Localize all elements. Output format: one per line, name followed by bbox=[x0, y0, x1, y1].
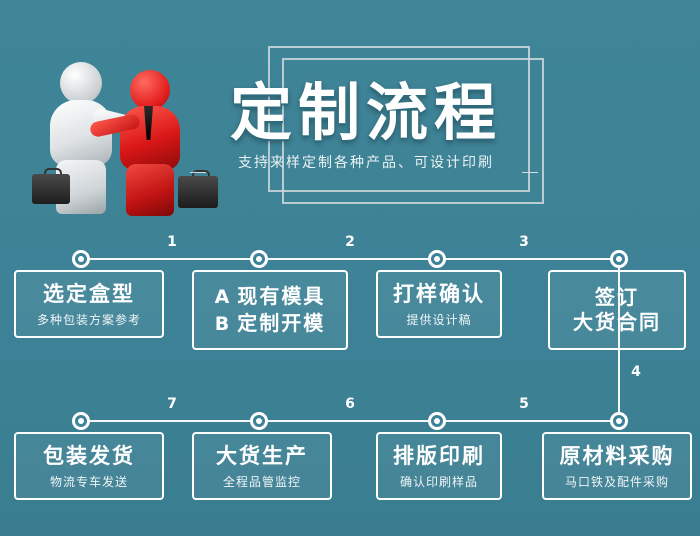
step-number-3: 3 bbox=[512, 234, 536, 250]
step-packing-shipping[interactable]: 包装发货 物流专车发送 bbox=[14, 432, 164, 500]
title-rule-left bbox=[190, 172, 206, 173]
step-2-option-a: A 现有模具 bbox=[215, 284, 326, 309]
step-5-subtitle: 马口铁及配件采购 bbox=[565, 473, 669, 490]
flow-line-row1 bbox=[80, 258, 620, 260]
flow-dot-5 bbox=[610, 412, 628, 430]
step-1-subtitle: 多种包装方案参考 bbox=[37, 311, 141, 328]
step-number-2: 2 bbox=[338, 234, 362, 250]
step-5-title: 原材料采购 bbox=[560, 443, 675, 469]
step-number-7: 7 bbox=[160, 396, 184, 412]
step-sign-contract[interactable]: 签订 大货合同 bbox=[548, 270, 686, 350]
step-number-6: 6 bbox=[338, 396, 362, 412]
briefcase-icon bbox=[32, 174, 70, 204]
header-section: 定制流程 支持来样定制各种产品、可设计印刷 bbox=[0, 0, 700, 212]
step-8-title: 包装发货 bbox=[43, 443, 135, 469]
step-7-subtitle: 全程品管监控 bbox=[223, 473, 301, 490]
flow-dot-1 bbox=[72, 250, 90, 268]
step-number-4: 4 bbox=[624, 364, 648, 380]
red-figure-head bbox=[130, 70, 170, 110]
red-figure-legs bbox=[126, 164, 174, 216]
step-6-title: 排版印刷 bbox=[393, 443, 485, 469]
option-a-tag: A bbox=[215, 286, 230, 308]
flow-dot-2 bbox=[250, 250, 268, 268]
step-2-option-b: B 定制开模 bbox=[215, 311, 325, 336]
step-select-box-type[interactable]: 选定盒型 多种包装方案参考 bbox=[14, 270, 164, 338]
flow-dot-8 bbox=[72, 412, 90, 430]
step-raw-material-purchase[interactable]: 原材料采购 马口铁及配件采购 bbox=[542, 432, 692, 500]
step-mold-option[interactable]: A 现有模具 B 定制开模 bbox=[192, 270, 348, 350]
page-subtitle: 支持来样定制各种产品、可设计印刷 bbox=[186, 152, 546, 172]
flow-dot-3 bbox=[428, 250, 446, 268]
step-number-1: 1 bbox=[160, 234, 184, 250]
option-a-label: 现有模具 bbox=[237, 284, 325, 309]
option-b-tag: B bbox=[215, 313, 229, 335]
page-title: 定制流程 bbox=[186, 78, 546, 148]
white-figure-head bbox=[60, 62, 102, 104]
step-4-title-line-2: 大货合同 bbox=[573, 310, 661, 335]
step-6-subtitle: 确认印刷样品 bbox=[400, 473, 478, 490]
step-number-5: 5 bbox=[512, 396, 536, 412]
option-b-label: 定制开模 bbox=[237, 311, 325, 336]
step-8-subtitle: 物流专车发送 bbox=[50, 473, 128, 490]
step-3-title: 打样确认 bbox=[393, 281, 485, 307]
customization-process-banner: 定制流程 支持来样定制各种产品、可设计印刷 1 2 3 4 5 6 7 bbox=[0, 0, 700, 536]
title-rule-right bbox=[522, 172, 538, 173]
flow-line-row2 bbox=[80, 420, 620, 422]
flow-dot-7 bbox=[250, 412, 268, 430]
step-mass-production[interactable]: 大货生产 全程品管监控 bbox=[192, 432, 332, 500]
step-layout-printing[interactable]: 排版印刷 确认印刷样品 bbox=[376, 432, 502, 500]
briefcase-icon bbox=[178, 176, 218, 208]
process-flow: 1 2 3 4 5 6 7 选定盒型 多种包装方案参考 A 现有模具 B 定制开… bbox=[0, 212, 700, 536]
step-1-title: 选定盒型 bbox=[43, 281, 135, 307]
flow-dot-6 bbox=[428, 412, 446, 430]
step-7-title: 大货生产 bbox=[216, 443, 308, 469]
step-4-title-line-1: 签订 bbox=[595, 285, 639, 310]
flow-dot-4 bbox=[610, 250, 628, 268]
step-sample-confirm[interactable]: 打样确认 提供设计稿 bbox=[376, 270, 502, 338]
step-3-subtitle: 提供设计稿 bbox=[406, 311, 471, 328]
